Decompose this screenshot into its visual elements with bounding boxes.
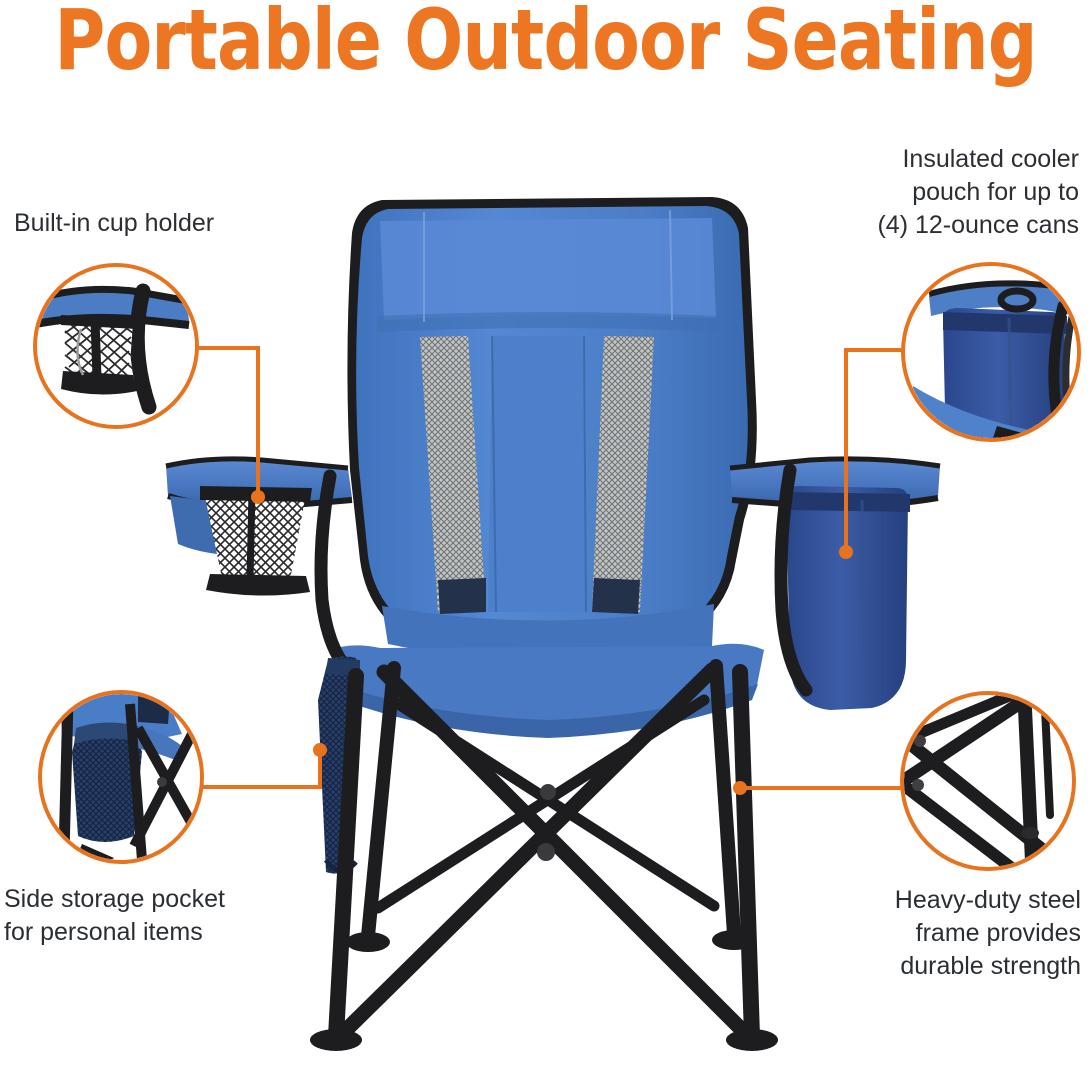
page-title: Portable Outdoor Seating [44,0,1048,88]
right-armrest-assembly [730,459,940,710]
chair-back-assembly [347,197,756,662]
callout-circle-steel-frame[interactable] [900,691,1076,871]
infographic-canvas: Portable Outdoor Seating [0,0,1091,1080]
connector-cupholder-h [197,346,260,350]
connector-dot-frame [733,781,747,795]
leg-front-left [336,676,356,1036]
callout-pocket-leg-left [64,700,68,854]
callout-pocket-rivet [157,777,167,787]
x-brace-bar-2 [344,670,712,1032]
back-hem [382,604,714,662]
center-seam-left [492,336,496,612]
side-storage-pocket [318,656,362,873]
left-armrest-side [170,496,262,556]
center-fabric-strip [488,336,588,612]
leg-front-right [740,672,752,1036]
connector-cupholder-v [256,346,260,497]
right-armrest-pad [730,459,940,504]
seat-assembly [330,644,764,738]
back-frame-outline [347,197,756,658]
caption-cooler-pouch: Insulated cooler pouch for up to (4) 12-… [877,143,1079,242]
x-brace-bar-4 [378,700,704,908]
brace-pivot-center [537,843,555,861]
foot-rear-left [346,932,390,952]
callout-image-steel-frame [904,695,1072,867]
callout-frame-joint [1021,827,1039,839]
chair-feet [310,930,778,1051]
cup-holder-strap [250,492,252,578]
callout-image-side-pocket [42,694,200,860]
side-storage-pocket-assembly [318,656,362,873]
headrest-panel [380,218,716,320]
connector-pocket-h [200,785,322,789]
side-pocket-bottom [326,860,356,871]
mesh-panel-left [420,336,486,612]
side-pocket-rim [326,658,360,676]
connector-dot-cooler [839,545,853,559]
center-seam-right [584,336,586,612]
seat-shadow [336,684,758,738]
chair-back-fabric [356,206,748,649]
right-arm-support-tube [781,470,806,690]
callout-circle-side-pocket[interactable] [38,690,204,864]
mesh-panel-left-foot [438,578,486,614]
callout-frame-rivet-top [914,735,926,747]
connector-cooler-v [844,348,848,554]
caption-steel-frame: Heavy-duty steel frame provides durable … [895,884,1081,983]
stitch-right [670,210,672,320]
callout-image-cooler-pouch [905,266,1077,438]
right-armrest-underedge [732,498,938,506]
brace-pivot-upper [540,784,556,800]
callout-pouch-crease [1009,318,1011,438]
headrest-seam [377,312,719,332]
caption-cup-holder: Built-in cup holder [14,207,214,240]
cooler-pouch-crease [862,500,866,700]
x-brace-frame [336,666,752,1036]
cup-holder-base [206,574,310,596]
mesh-panel-right [592,336,654,612]
callout-pocket-darkpanel [138,694,170,724]
connector-frame-h [740,786,905,790]
leg-rear-left [368,668,394,936]
connector-dot-pocket [313,743,327,757]
caption-side-pocket: Side storage pocket for personal items [4,883,225,949]
right-armrest-edge [730,459,940,468]
leg-rear-right [716,666,734,934]
left-arm-support-tube [321,476,350,672]
foot-rear-right [712,930,756,950]
connector-dot-cupholder [251,490,265,504]
cooler-pouch-lid-seam [786,492,910,512]
callout-circle-cup-holder[interactable] [33,263,199,429]
callout-image-cup-holder [37,267,195,425]
x-brace-bar-1 [384,672,744,1032]
foot-front-right [726,1029,778,1051]
x-brace-bar-3 [392,700,714,906]
callout-circle-cooler-pouch[interactable] [901,262,1081,442]
mesh-panel-right-foot [592,578,640,614]
mesh-cup-holder [204,492,306,580]
connector-cooler-h [844,348,906,352]
foot-front-left [310,1029,362,1051]
callout-holder-strap [95,321,97,377]
seat-fabric [330,644,764,726]
callout-frame-rivet-bottom [912,779,924,791]
